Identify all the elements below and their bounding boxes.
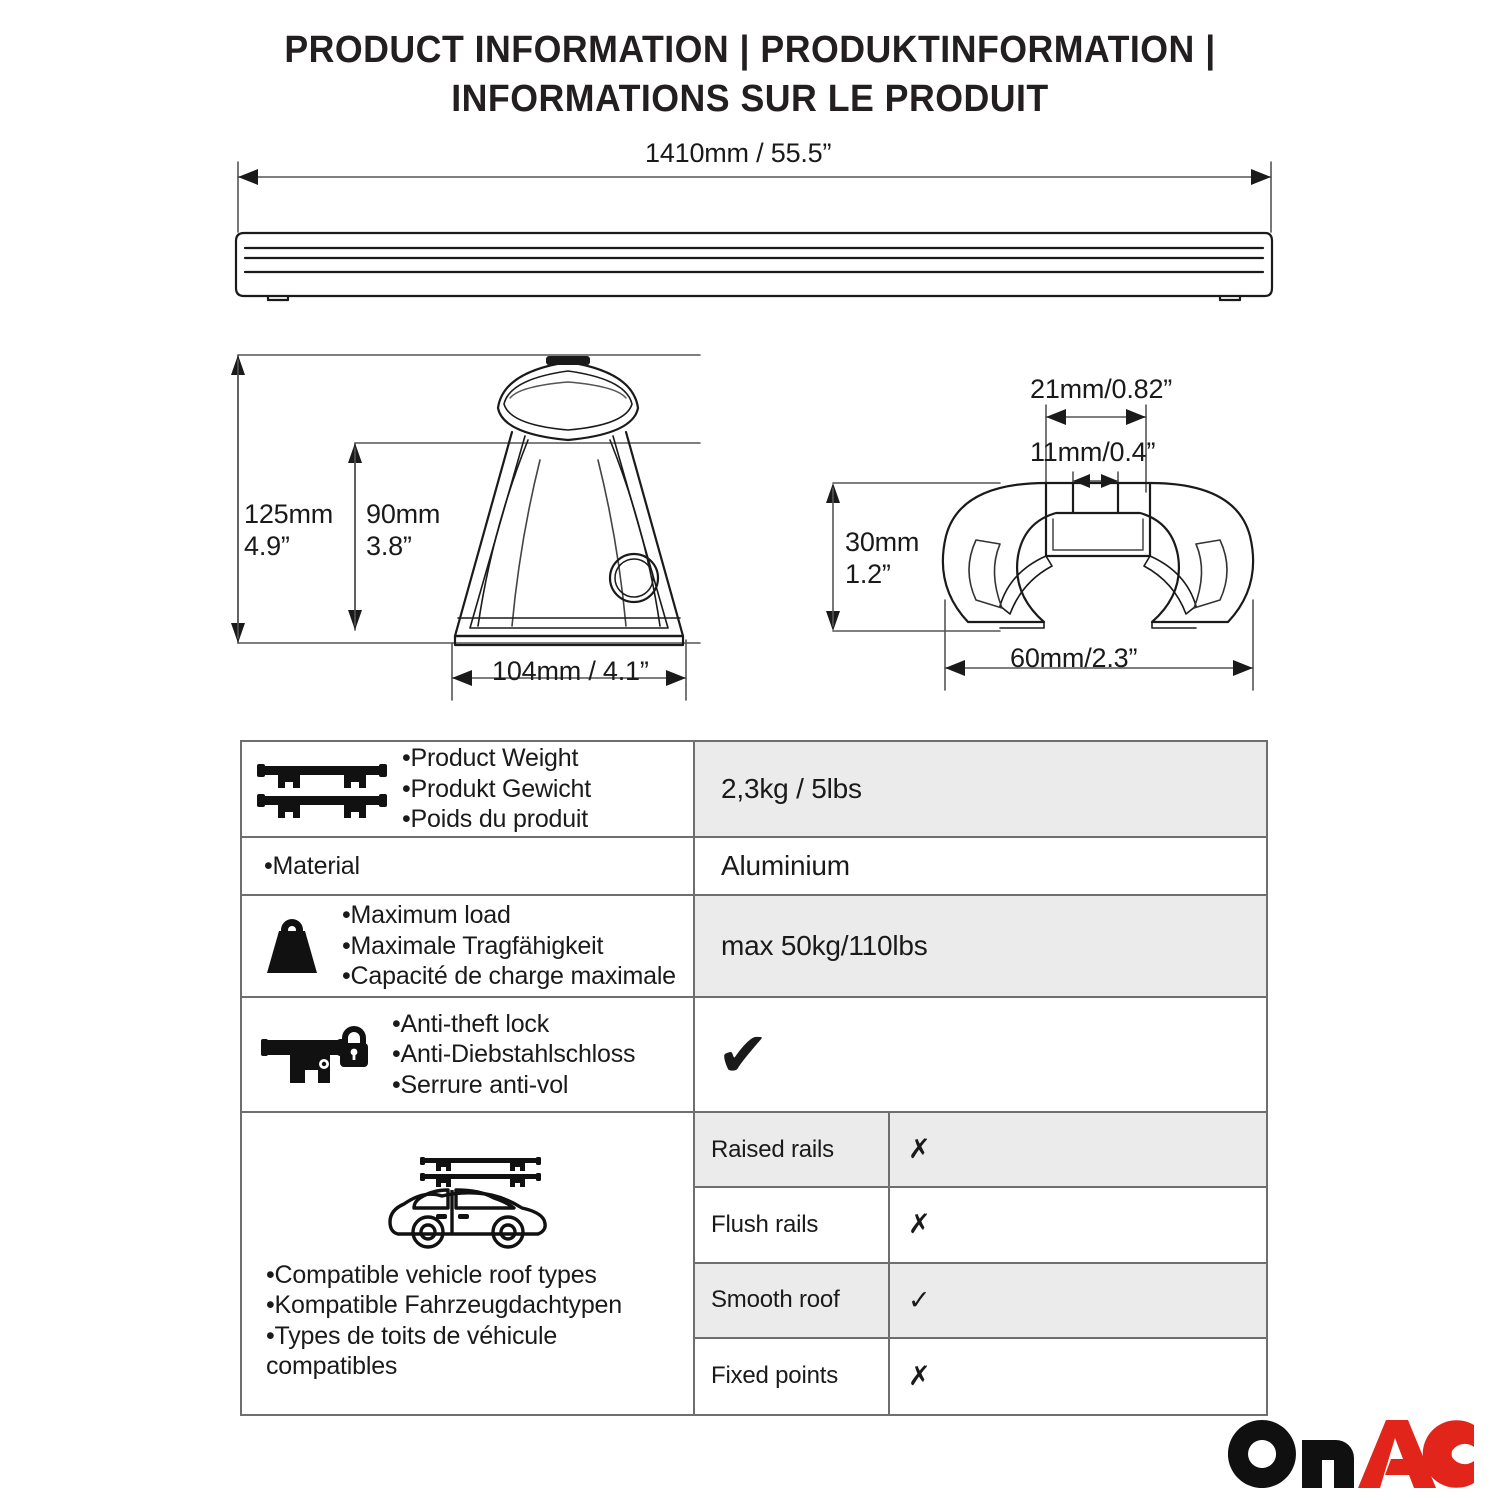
dim-foot-height-total-in: 4.9” (244, 531, 333, 563)
dim-foot-height-total: 125mm 4.9” (244, 499, 333, 563)
label-fr: •Capacité de charge maximale (342, 961, 676, 992)
row-labels: •Material (242, 851, 360, 882)
row-labels: •Product Weight •Produkt Gewicht •Poids … (402, 743, 591, 835)
row-labels: •Maximum load •Maximale Tragfähigkeit •C… (342, 900, 676, 992)
dim-foot-width: 104mm / 4.1” (492, 656, 649, 687)
roof-type-name: Smooth roof (695, 1264, 890, 1337)
dim-foot-height-total-mm: 125mm (244, 499, 333, 531)
dim-profile-height-mm: 30mm (845, 527, 919, 559)
label-de: •Kompatible Fahrzeugdachtypen (266, 1290, 646, 1321)
dim-profile-slot-inner: 11mm/0.4” (1030, 437, 1155, 468)
row-label-cell: •Maximum load •Maximale Tragfähigkeit •C… (242, 896, 695, 996)
dim-profile-height: 30mm 1.2” (845, 527, 919, 591)
roof-bars-icon (242, 758, 402, 820)
value-anti-theft-lock: ✔ (695, 1024, 769, 1086)
row-label-cell: •Product Weight •Produkt Gewicht •Poids … (242, 742, 695, 836)
label-en: •Product Weight (402, 743, 591, 774)
roof-type-value: ✗ (890, 1113, 1266, 1186)
roof-type-name: Raised rails (695, 1113, 890, 1186)
row-value-cell: Aluminium (695, 838, 1266, 894)
value-product-weight: 2,3kg / 5lbs (695, 773, 862, 805)
row-label-cell: •Anti-theft lock •Anti-Diebstahlschloss … (242, 998, 695, 1111)
roof-type-value: ✗ (890, 1188, 1266, 1261)
roof-type-row-flush-rails: Flush rails ✗ (695, 1188, 1266, 1263)
omac-logo (1228, 1420, 1476, 1488)
row-value-cell: max 50kg/110lbs (695, 896, 1266, 996)
table-row-product-weight: •Product Weight •Produkt Gewicht •Poids … (242, 742, 1266, 838)
roof-type-row-raised-rails: Raised rails ✗ (695, 1113, 1266, 1188)
label-fr: •Serrure anti-vol (392, 1070, 635, 1101)
label-en: •Anti-theft lock (392, 1009, 635, 1040)
label-en: •Maximum load (342, 900, 676, 931)
specification-table: •Product Weight •Produkt Gewicht •Poids … (240, 740, 1268, 1416)
dim-profile-slot-outer: 21mm/0.82” (1030, 374, 1172, 405)
table-row-material: •Material Aluminium (242, 838, 1266, 896)
label-en: •Material (264, 851, 360, 882)
weight-icon (242, 915, 342, 977)
dim-profile-height-in: 1.2” (845, 559, 919, 591)
value-maximum-load: max 50kg/110lbs (695, 930, 928, 962)
label-de: •Anti-Diebstahlschloss (392, 1039, 635, 1070)
product-info-sheet: PRODUCT INFORMATION | PRODUKTINFORMATION… (0, 0, 1500, 1500)
table-row-anti-theft-lock: •Anti-theft lock •Anti-Diebstahlschloss … (242, 998, 1266, 1113)
roof-type-row-fixed-points: Fixed points ✗ (695, 1339, 1266, 1414)
label-fr: •Types de toits de véhicule compatibles (266, 1321, 646, 1382)
label-en: •Compatible vehicle roof types (266, 1260, 646, 1291)
table-row-roof-compatibility: •Compatible vehicle roof types •Kompatib… (242, 1113, 1266, 1414)
dim-foot-height-inner-in: 3.8” (366, 531, 440, 563)
row-value-cell: 2,3kg / 5lbs (695, 742, 1266, 836)
label-de: •Produkt Gewicht (402, 774, 591, 805)
row-label-cell: •Compatible vehicle roof types •Kompatib… (242, 1113, 695, 1414)
table-row-maximum-load: •Maximum load •Maximale Tragfähigkeit •C… (242, 896, 1266, 998)
dim-foot-height-inner-mm: 90mm (366, 499, 440, 531)
roof-type-value: ✓ (890, 1264, 1266, 1337)
row-labels: •Compatible vehicle roof types •Kompatib… (242, 1260, 646, 1382)
row-value-cell: ✔ (695, 998, 1266, 1111)
label-de: •Maximale Tragfähigkeit (342, 931, 676, 962)
row-labels: •Anti-theft lock •Anti-Diebstahlschloss … (392, 1009, 635, 1101)
value-material: Aluminium (695, 850, 850, 882)
dim-bar-length: 1410mm / 55.5” (645, 138, 831, 169)
label-fr: •Poids du produit (402, 804, 591, 835)
lock-icon (242, 1020, 392, 1090)
dim-profile-width: 60mm/2.3” (1010, 643, 1137, 674)
roof-type-row-smooth-roof: Smooth roof ✓ (695, 1264, 1266, 1339)
row-label-cell: •Material (242, 838, 695, 894)
roof-type-subtable: Raised rails ✗ Flush rails ✗ Smooth roof… (695, 1113, 1266, 1414)
roof-type-name: Flush rails (695, 1188, 890, 1261)
car-with-bars-icon (242, 1146, 693, 1254)
dim-foot-height-inner: 90mm 3.8” (366, 499, 440, 563)
roof-type-value: ✗ (890, 1339, 1266, 1414)
roof-type-name: Fixed points (695, 1339, 890, 1414)
